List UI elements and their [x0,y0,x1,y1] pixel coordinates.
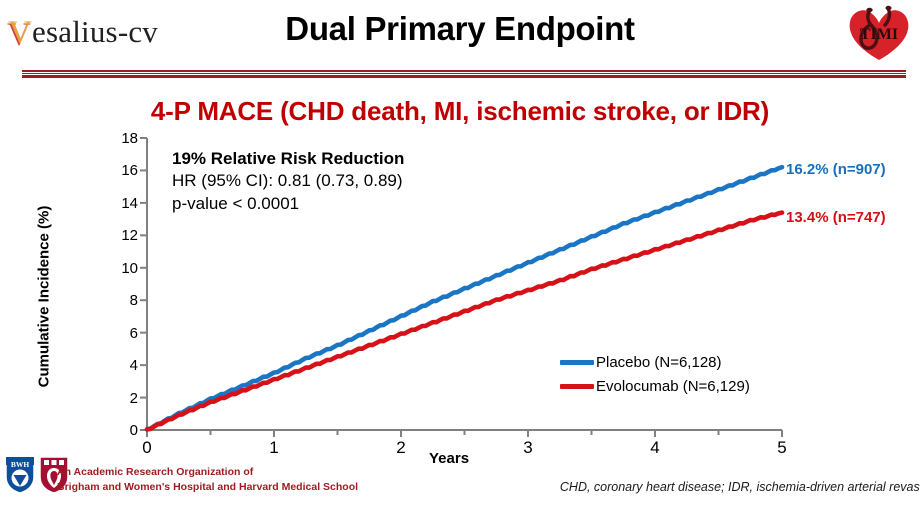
footer-line-1: An Academic Research Organization of [57,465,358,481]
abbreviations-footnote: CHD, coronary heart disease; IDR, ischem… [560,480,920,494]
header-divider [22,70,906,78]
svg-text:TIMI: TIMI [860,26,898,43]
footer-affiliation: An Academic Research Organization of Bri… [57,465,358,497]
timi-heart-icon: TIMI [844,2,914,64]
endpoint-subtitle: 4-P MACE (CHD death, MI, ischemic stroke… [0,96,920,127]
plot-area [0,128,920,458]
slide: Vesalius-cv Dual Primary Endpoint TIMI 4… [0,0,920,508]
footer-line-2: Brigham and Women's Hospital and Harvard… [57,480,358,496]
km-chart: Cumulative Incidence (%) 18 16 14 12 10 … [0,128,920,458]
bwh-shield-logo: BWH [4,455,36,500]
curves [147,167,782,429]
page-title: Dual Primary Endpoint [0,10,920,48]
timi-logo: TIMI [844,2,914,64]
evolocumab-curve [147,213,782,430]
svg-text:BWH: BWH [11,460,30,469]
